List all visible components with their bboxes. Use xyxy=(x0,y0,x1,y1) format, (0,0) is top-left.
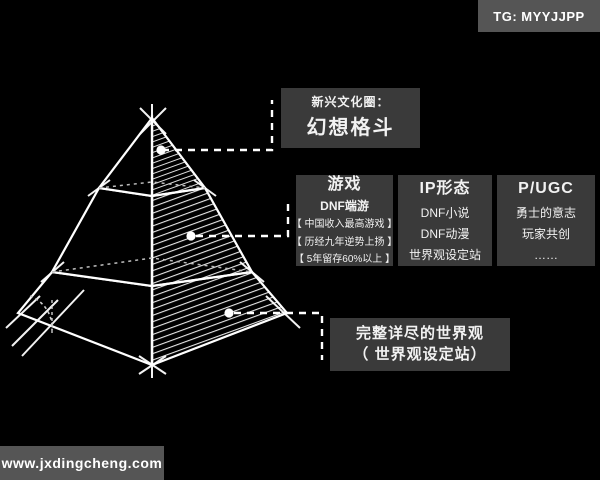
callout-ugc-item-2: 玩家共创 xyxy=(522,226,570,242)
callout-box-game[interactable]: 游戏 DNF端游 【 中国收入最高游戏 】 【 历经九年逆势上扬 】 【 5年留… xyxy=(296,175,393,266)
callout-top-title-large: 幻想格斗 xyxy=(307,115,395,142)
callout-game-subheading: DNF端游 xyxy=(320,198,369,214)
callout-ugc-heading: P/UGC xyxy=(518,178,574,200)
callout-box-emerging-culture[interactable]: 新兴文化圈： 幻想格斗 xyxy=(281,88,420,148)
callout-box-ip-form[interactable]: IP形态 DNF小说 DNF动漫 世界观设定站 xyxy=(398,175,492,266)
callout-ip-item-2: DNF动漫 xyxy=(421,226,470,242)
telegram-watermark: TG: MYYJJPP xyxy=(478,0,600,32)
callout-ugc-item-3: …… xyxy=(534,247,558,263)
callout-bottom-line-2: （ 世界观设定站） xyxy=(353,345,486,365)
tier-base-right-face xyxy=(152,272,287,365)
site-watermark: www.jxdingcheng.com xyxy=(0,446,164,480)
callout-game-item-3: 【 5年留存60%以上 】 xyxy=(294,253,395,267)
callout-game-item-1: 【 中国收入最高游戏 】 xyxy=(292,218,398,232)
screenshot-canvas: 新兴文化圈： 幻想格斗 游戏 DNF端游 【 中国收入最高游戏 】 【 历经九年… xyxy=(0,0,600,480)
callout-box-worldview[interactable]: 完整详尽的世界观 （ 世界观设定站） xyxy=(330,318,510,371)
callout-box-pugc[interactable]: P/UGC 勇士的意志 玩家共创 …… xyxy=(497,175,595,266)
leader-line-top xyxy=(162,100,272,150)
callout-ip-heading: IP形态 xyxy=(419,178,470,200)
callout-game-item-2: 【 历经九年逆势上扬 】 xyxy=(292,236,398,250)
callout-ugc-item-1: 勇士的意志 xyxy=(516,205,576,221)
callout-ip-item-3: 世界观设定站 xyxy=(409,247,481,263)
callout-top-title-small: 新兴文化圈： xyxy=(311,94,389,110)
connector-dot-apex xyxy=(156,145,165,154)
tier-middle-left-face xyxy=(52,188,152,286)
callout-ip-item-1: DNF小说 xyxy=(421,205,470,221)
connector-dot-base xyxy=(224,308,233,317)
connector-dot-middle xyxy=(186,231,195,240)
callout-bottom-line-1: 完整详尽的世界观 xyxy=(356,324,484,344)
callout-game-heading: 游戏 xyxy=(327,174,361,196)
